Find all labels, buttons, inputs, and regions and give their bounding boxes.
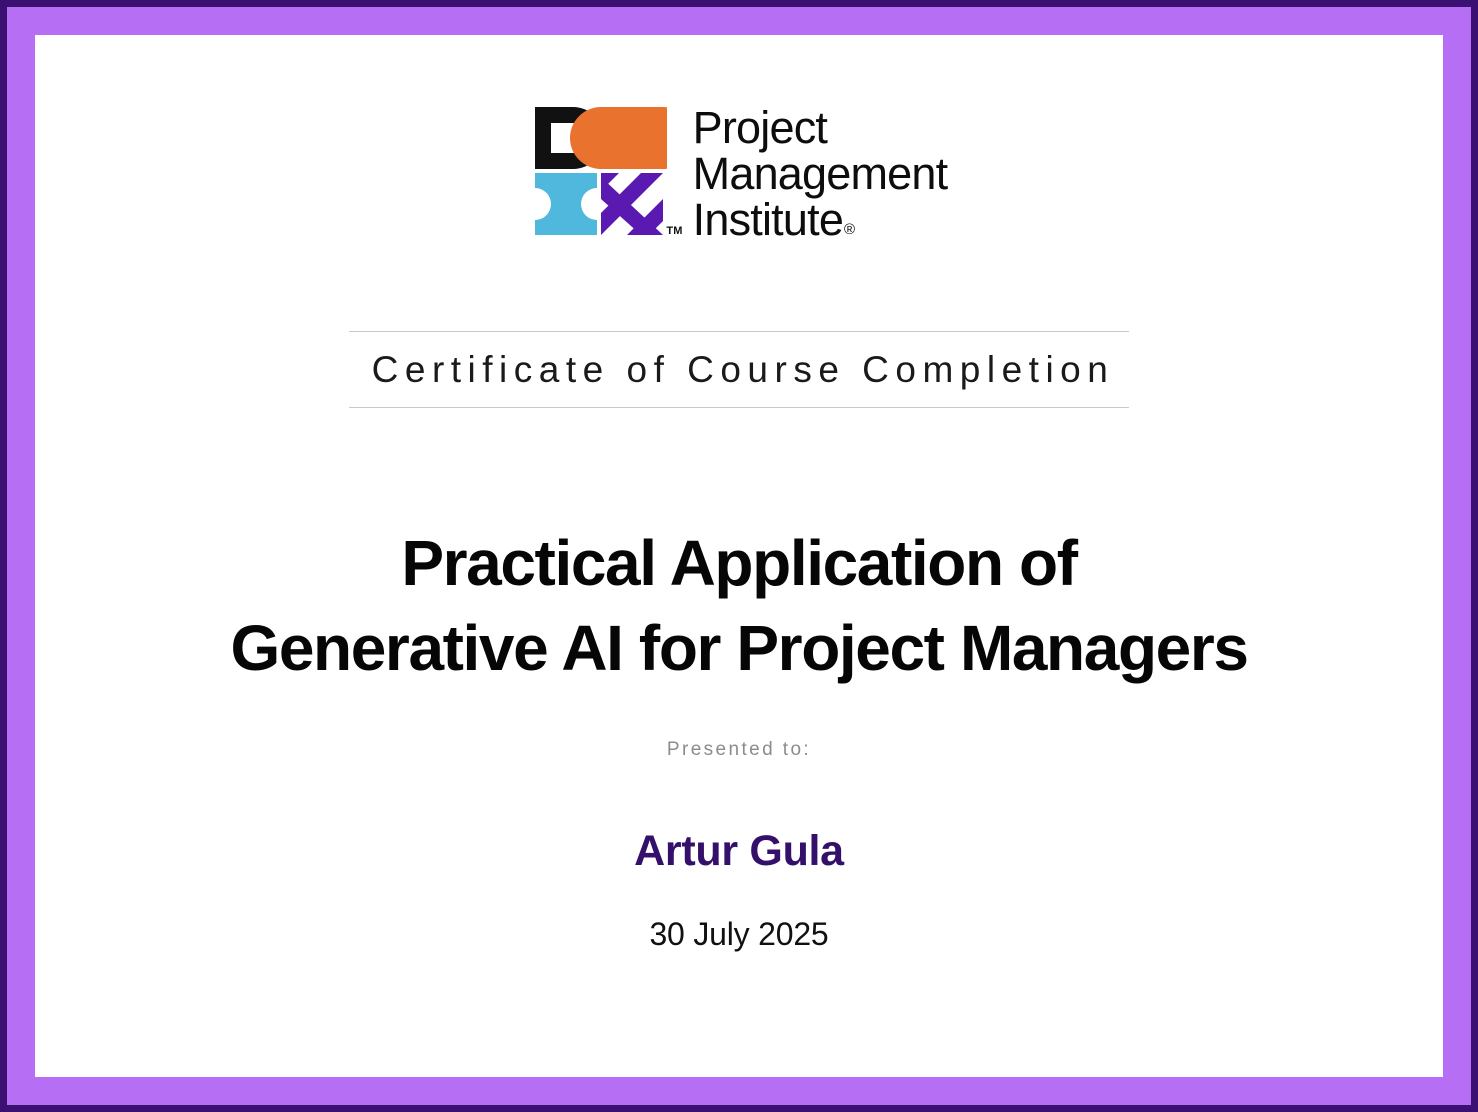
certificate-border-band: TM Project Management Institute® Certifi… [7, 7, 1471, 1105]
wordmark-line-project: Project [693, 105, 948, 151]
pmi-wordmark: Project Management Institute® [693, 103, 948, 243]
certificate-page: TM Project Management Institute® Certifi… [35, 35, 1443, 1077]
pmi-logo-mark-icon: TM [531, 103, 667, 239]
registered-icon: ® [844, 221, 854, 238]
wordmark-line-management: Management [693, 151, 948, 197]
certificate-frame: TM Project Management Institute® Certifi… [0, 0, 1478, 1112]
heading-rule-bottom [349, 407, 1129, 408]
course-title-line-2: Generative AI for Project Managers [95, 606, 1383, 691]
course-title-line-1: Practical Application of [95, 521, 1383, 606]
presented-to-label: Presented to: [35, 739, 1443, 761]
course-title: Practical Application of Generative AI f… [35, 521, 1443, 691]
certificate-heading: Certificate of Course Completion [35, 331, 1443, 408]
heading-text: Certificate of Course Completion [353, 332, 1133, 407]
trademark-icon: TM [666, 225, 682, 237]
wordmark-line-institute: Institute® [693, 197, 948, 243]
recipient-name: Artur Gula [35, 827, 1443, 876]
issue-date: 30 July 2025 [35, 916, 1443, 953]
pmi-logo: TM Project Management Institute® [35, 103, 1443, 243]
wordmark-institute-text: Institute [693, 194, 843, 245]
